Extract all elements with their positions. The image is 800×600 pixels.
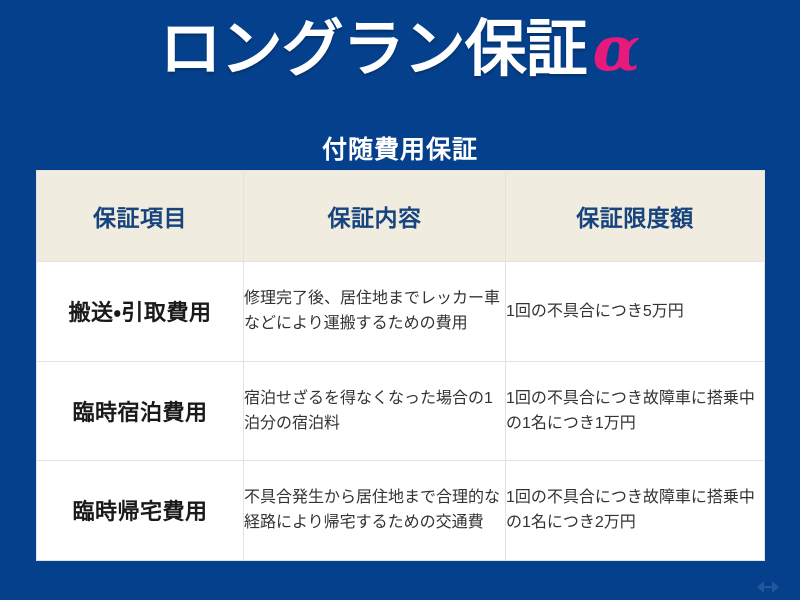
table-row: 臨時帰宅費用 不具合発生から居住地まで合理的な経路により帰宅するための交通費 1… xyxy=(37,461,765,561)
brand-mark-icon xyxy=(757,580,779,594)
row-limit: 1回の不具合につき5万円 xyxy=(506,262,765,362)
title-alpha-symbol: α xyxy=(593,16,641,81)
slide-root: ロングラン保証α 付随費用保証 保証項目 保証内容 保証限度額 搬送・引取費用 … xyxy=(0,0,800,600)
row-item-name: 臨時帰宅費用 xyxy=(37,461,244,561)
row-item-name: 搬送・引取費用 xyxy=(37,262,244,362)
column-header-limit: 保証限度額 xyxy=(506,171,765,262)
warranty-table: 保証項目 保証内容 保証限度額 搬送・引取費用 修理完了後、居住地までレッカー車… xyxy=(36,170,765,561)
row-item-name: 臨時宿泊費用 xyxy=(37,361,244,461)
row-description: 不具合発生から居住地まで合理的な経路により帰宅するための交通費 xyxy=(244,461,506,561)
title-main-text: ロングラン保証 xyxy=(160,16,587,81)
watermark xyxy=(757,580,786,594)
column-header-content: 保証内容 xyxy=(244,171,506,262)
warranty-table-container: 保証項目 保証内容 保証限度額 搬送・引取費用 修理完了後、居住地までレッカー車… xyxy=(36,170,764,559)
column-header-item: 保証項目 xyxy=(37,171,244,262)
table-body: 搬送・引取費用 修理完了後、居住地までレッカー車などにより運搬するための費用 1… xyxy=(37,262,765,561)
row-description: 修理完了後、居住地までレッカー車などにより運搬するための費用 xyxy=(244,262,506,362)
row-limit: 1回の不具合につき故障車に搭乗中の1名につき1万円 xyxy=(506,361,765,461)
table-row: 臨時宿泊費用 宿泊せざるを得なくなった場合の1泊分の宿泊料 1回の不具合につき故… xyxy=(37,361,765,461)
row-limit: 1回の不具合につき故障車に搭乗中の1名につき2万円 xyxy=(506,461,765,561)
table-header: 保証項目 保証内容 保証限度額 xyxy=(37,171,765,262)
table-header-row: 保証項目 保証内容 保証限度額 xyxy=(37,171,765,262)
table-row: 搬送・引取費用 修理完了後、居住地までレッカー車などにより運搬するための費用 1… xyxy=(37,262,765,362)
page-subtitle: 付随費用保証 xyxy=(0,130,800,166)
row-description: 宿泊せざるを得なくなった場合の1泊分の宿泊料 xyxy=(244,361,506,461)
page-title: ロングラン保証α xyxy=(0,16,800,81)
